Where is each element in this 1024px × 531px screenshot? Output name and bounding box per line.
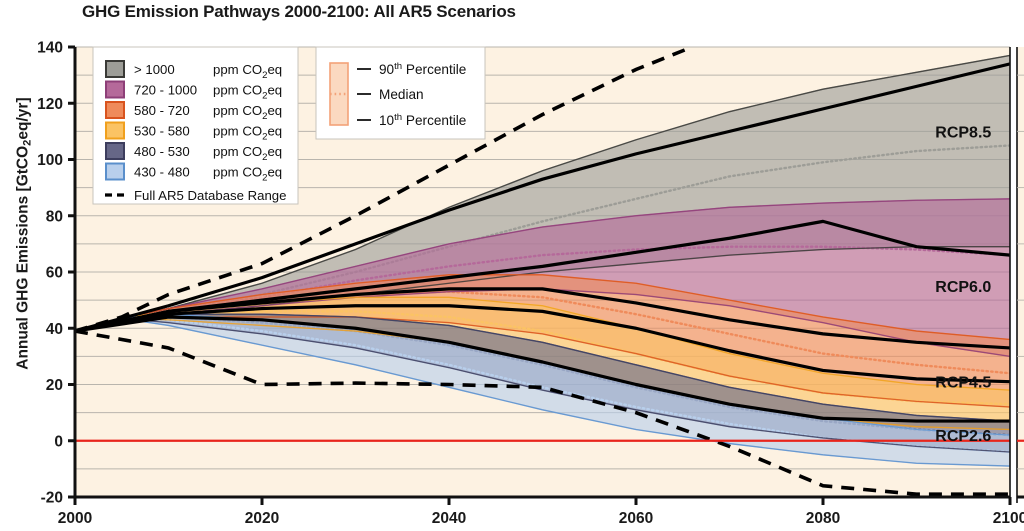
legend-median-label: Median [379,87,424,102]
plot-area: RCP8.5RCP6.0RCP4.5RCP2.6-200204060801001… [0,0,1024,531]
unit-post: eq [267,62,282,77]
band-legend-swatch [106,164,124,180]
x-tick-label: 2040 [432,510,466,527]
full-range-legend-label: Full AR5 Database Range [134,188,286,203]
legend-10th-percentile-label: 10th Percentile [379,112,466,128]
pct-word: Percentile [402,113,466,128]
band-legend: > 1000ppm CO2eq720 - 1000ppm CO2eq580 - … [93,47,298,204]
band-legend-swatch [106,123,124,139]
x-tick-label: 2080 [806,510,840,527]
pct-ordinal: th [394,61,402,72]
unit-post: eq [267,124,282,139]
unit-pre: ppm CO [213,144,262,159]
unit-post: eq [267,144,282,159]
unit-post: eq [267,83,282,98]
rcp-label: RCP6.0 [935,279,991,296]
x-axis-ticks: 200020202040206020802100 [58,497,1024,527]
x-tick-label: 2020 [245,510,279,527]
y-tick-label: -20 [41,490,63,507]
y-tick-label: 100 [37,152,63,169]
band-legend-swatch [106,82,124,98]
y-tick-label: 140 [37,40,63,57]
band-legend-range-label: 720 - 1000 [134,83,197,98]
band-legend-swatch [106,102,124,118]
band-legend-range-label: 530 - 580 [134,124,190,139]
y-tick-label: 80 [46,208,63,225]
y-tick-label: 0 [54,433,63,450]
unit-post: eq [267,103,282,118]
pct-number: 10 [379,113,395,128]
y-tick-label: 60 [46,265,63,282]
chart-svg: RCP8.5RCP6.0RCP4.5RCP2.6-200204060801001… [0,0,1024,531]
x-tick-label: 2060 [619,510,653,527]
pct-number: 90 [379,62,395,77]
band-legend-range-label: > 1000 [134,62,175,77]
unit-pre: ppm CO [213,124,262,139]
band-legend-range-label: 430 - 480 [134,165,190,180]
unit-pre: ppm CO [213,62,262,77]
band-legend-range-label: 480 - 530 [134,144,190,159]
unit-pre: ppm CO [213,165,262,180]
x-tick-label: 2000 [58,510,92,527]
y-tick-label: 120 [37,96,63,113]
rcp-label: RCP4.5 [935,375,991,392]
band-legend-swatch [106,143,124,159]
unit-pre: ppm CO [213,103,262,118]
pct-ordinal: th [394,112,402,123]
sliver-bg [1017,47,1024,497]
rcp-label: RCP8.5 [935,124,991,141]
rcp-label: RCP2.6 [935,428,991,445]
band-legend-swatch [106,61,124,77]
percentile-legend: 90th PercentileMedian10th Percentile [316,47,485,139]
unit-pre: ppm CO [213,83,262,98]
band-legend-range-label: 580 - 720 [134,103,190,118]
pct-word: Percentile [402,62,466,77]
y-axis-ticks: -20020406080100120140 [37,40,75,507]
y-tick-label: 40 [46,321,63,338]
unit-post: eq [267,165,282,180]
x-tick-label: 2100 [993,510,1024,527]
adjacent-panel-sliver [1017,47,1024,503]
y-tick-label: 20 [46,377,63,394]
legend-90th-percentile-label: 90th Percentile [379,61,466,77]
chart-root: GHG Emission Pathways 2000-2100: All AR5… [0,0,1024,531]
